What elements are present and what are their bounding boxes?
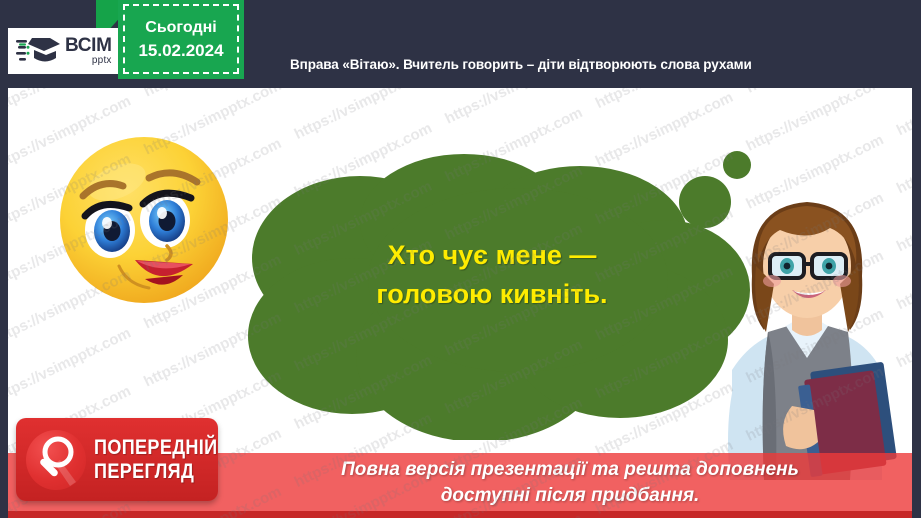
preview-badge-text: ПОПЕРЕДНІЙ ПЕРЕГЛЯД	[94, 437, 238, 482]
preview-badge-line-1: ПОПЕРЕДНІЙ	[94, 437, 218, 458]
header-title: Вправа «Вітаю». Вчитель говорить – діти …	[290, 40, 890, 88]
smiley-face-icon	[57, 134, 231, 306]
magnifier-icon	[26, 430, 86, 490]
today-date: 15.02.2024	[138, 41, 223, 61]
thought-bubble-icon	[232, 140, 752, 440]
presentation-slide: Хто чує мене — головою кивніть.	[0, 0, 921, 518]
smiley-emoji	[57, 134, 231, 306]
today-label: Сьогодні	[145, 19, 216, 37]
purchase-banner-line-1: Повна версія презентації та решта доповн…	[341, 457, 799, 483]
purchase-banner-text: Повна версія презентації та решта доповн…	[250, 455, 890, 511]
graduation-cap-icon	[16, 34, 64, 68]
preview-badge[interactable]: ПОПЕРЕДНІЙ ПЕРЕГЛЯД	[16, 418, 218, 501]
today-date-badge: Сьогодні 15.02.2024	[118, 0, 244, 79]
purchase-banner-line-2: доступні після придбання.	[441, 483, 700, 509]
brand-suffix: pptx	[65, 56, 112, 66]
right-frame-bar	[912, 0, 921, 518]
brand-name: ВСІМ	[65, 36, 112, 55]
brand-logo[interactable]: ВСІМ pptx	[8, 28, 130, 74]
bottom-accent-strip	[0, 511, 921, 518]
left-frame-bar	[0, 0, 8, 518]
thought-bubble: Хто чує мене — головою кивніть.	[232, 140, 752, 440]
preview-badge-line-2: ПЕРЕГЛЯД	[94, 461, 218, 482]
brand-logo-text: ВСІМ pptx	[65, 36, 112, 66]
